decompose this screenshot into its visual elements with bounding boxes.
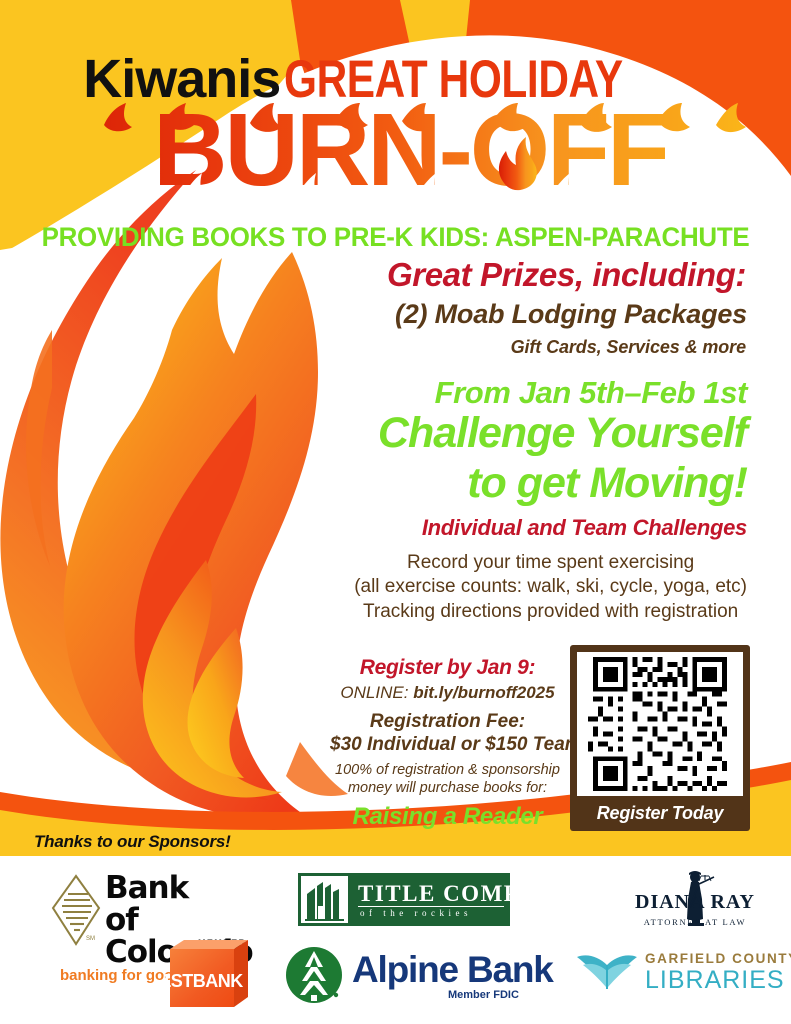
svg-text:1STBANK: 1STBANK	[164, 971, 243, 991]
title-company-building-icon	[301, 876, 348, 923]
tagline: PROVIDING BOOKS TO PRE-K KIDS: ASPEN-PAR…	[16, 222, 775, 253]
alpine-bank-wordmark: Alpine Bank	[352, 949, 553, 991]
registration-note-line-1: 100% of registration & sponsorship	[330, 761, 565, 779]
title-company-rule	[358, 906, 504, 907]
sponsor-garfield-county-libraries[interactable]: GARFIELD COUNTY LIBRARIES	[575, 947, 775, 1005]
building-icon	[301, 876, 348, 923]
registration-block: Register by Jan 9: ONLINE: bit.ly/burnof…	[330, 655, 565, 831]
challenge-dates: From Jan 5th–Feb 1st	[435, 375, 747, 411]
online-label: ONLINE:	[340, 683, 408, 702]
boc-line-1: Bank	[105, 872, 265, 904]
title-company-subtitle: of the rockies	[360, 908, 472, 918]
headline-row: KiwanisGREAT HOLIDAY	[0, 52, 791, 106]
sponsor-title-company-of-the-rockies[interactable]: TITLE COMPANY of the rockies	[298, 873, 510, 926]
prizes-line-giftcards: Gift Cards, Services & more	[511, 337, 746, 358]
sponsor-bank-of-colorado[interactable]: SM Bank of Colorado MEMBER FDIC	[50, 872, 265, 947]
instructions-line-1: Record your time spent exercising	[354, 551, 747, 575]
title-company-wordmark: TITLE COMPANY	[358, 881, 572, 907]
registration-note-line-2: money will purchase books for:	[330, 779, 565, 797]
sponsors-label: Thanks to our Sponsors!	[34, 832, 231, 852]
alpine-bank-tree-icon	[284, 945, 344, 1005]
sponsor-diana-ray-attorney[interactable]: DIANA RAY ATTORNEY AT LAW	[615, 869, 775, 931]
registration-fee-heading: Registration Fee:	[330, 711, 565, 733]
beneficiary-name: Raising a Reader	[330, 803, 565, 831]
diana-ray-subtitle: ATTORNEY AT LAW	[615, 917, 775, 927]
registration-online-line: ONLINE: bit.ly/burnoff2025	[330, 683, 565, 703]
registration-note: 100% of registration & sponsorship money…	[330, 761, 565, 797]
registration-url[interactable]: bit.ly/burnoff2025	[413, 683, 554, 702]
great-holiday-wordmark: GREAT HOLIDAY	[284, 53, 623, 106]
diana-ray-wordmark: DIANA RAY	[615, 891, 775, 914]
burn-off-wordmark: BURN-OFF	[60, 103, 760, 203]
libraries-label: LIBRARIES	[645, 966, 785, 995]
firstbank-cube-icon: 1STBANK	[164, 939, 256, 1011]
poster-canvas: KiwanisGREAT HOLIDAY BURN-OFF	[0, 0, 791, 1024]
instructions-line-3: Tracking directions provided with regist…	[354, 600, 747, 624]
instructions-block: Record your time spent exercising (all e…	[354, 551, 747, 624]
challenge-headline-line1: Challenge Yourself	[378, 412, 747, 455]
qr-code-icon[interactable]	[577, 652, 743, 796]
qr-code-panel[interactable]: Register Today	[570, 645, 750, 831]
registration-heading: Register by Jan 9:	[330, 655, 565, 680]
prizes-heading: Great Prizes, including:	[387, 256, 746, 294]
prizes-line-moab: (2) Moab Lodging Packages	[395, 299, 747, 330]
challenge-headline-line2: to get Moving!	[467, 462, 747, 505]
kiwanis-wordmark: Kiwanis	[83, 52, 280, 106]
sponsor-firstbank[interactable]: banking for good 1STBANK	[52, 939, 267, 1011]
burn-off-flame-lettering: BURN-OFF	[60, 103, 760, 203]
instructions-line-2: (all exercise counts: walk, ski, cycle, …	[354, 575, 747, 599]
open-book-icon	[575, 951, 641, 999]
alpine-bank-fdic-note: Member FDIC	[448, 989, 519, 1001]
garfield-county-label: GARFIELD COUNTY	[645, 951, 791, 966]
sponsor-alpine-bank[interactable]: Alpine Bank Member FDIC	[280, 945, 540, 1007]
registration-fee-amount: $30 Individual or $150 Team	[330, 734, 565, 756]
challenge-subtitle: Individual and Team Challenges	[422, 515, 747, 541]
bank-of-colorado-diamond-icon: SM	[50, 874, 102, 946]
sponsor-logo-area: SM Bank of Colorado MEMBER FDIC TITLE	[0, 857, 791, 1024]
qr-code-caption: Register Today	[577, 796, 743, 830]
